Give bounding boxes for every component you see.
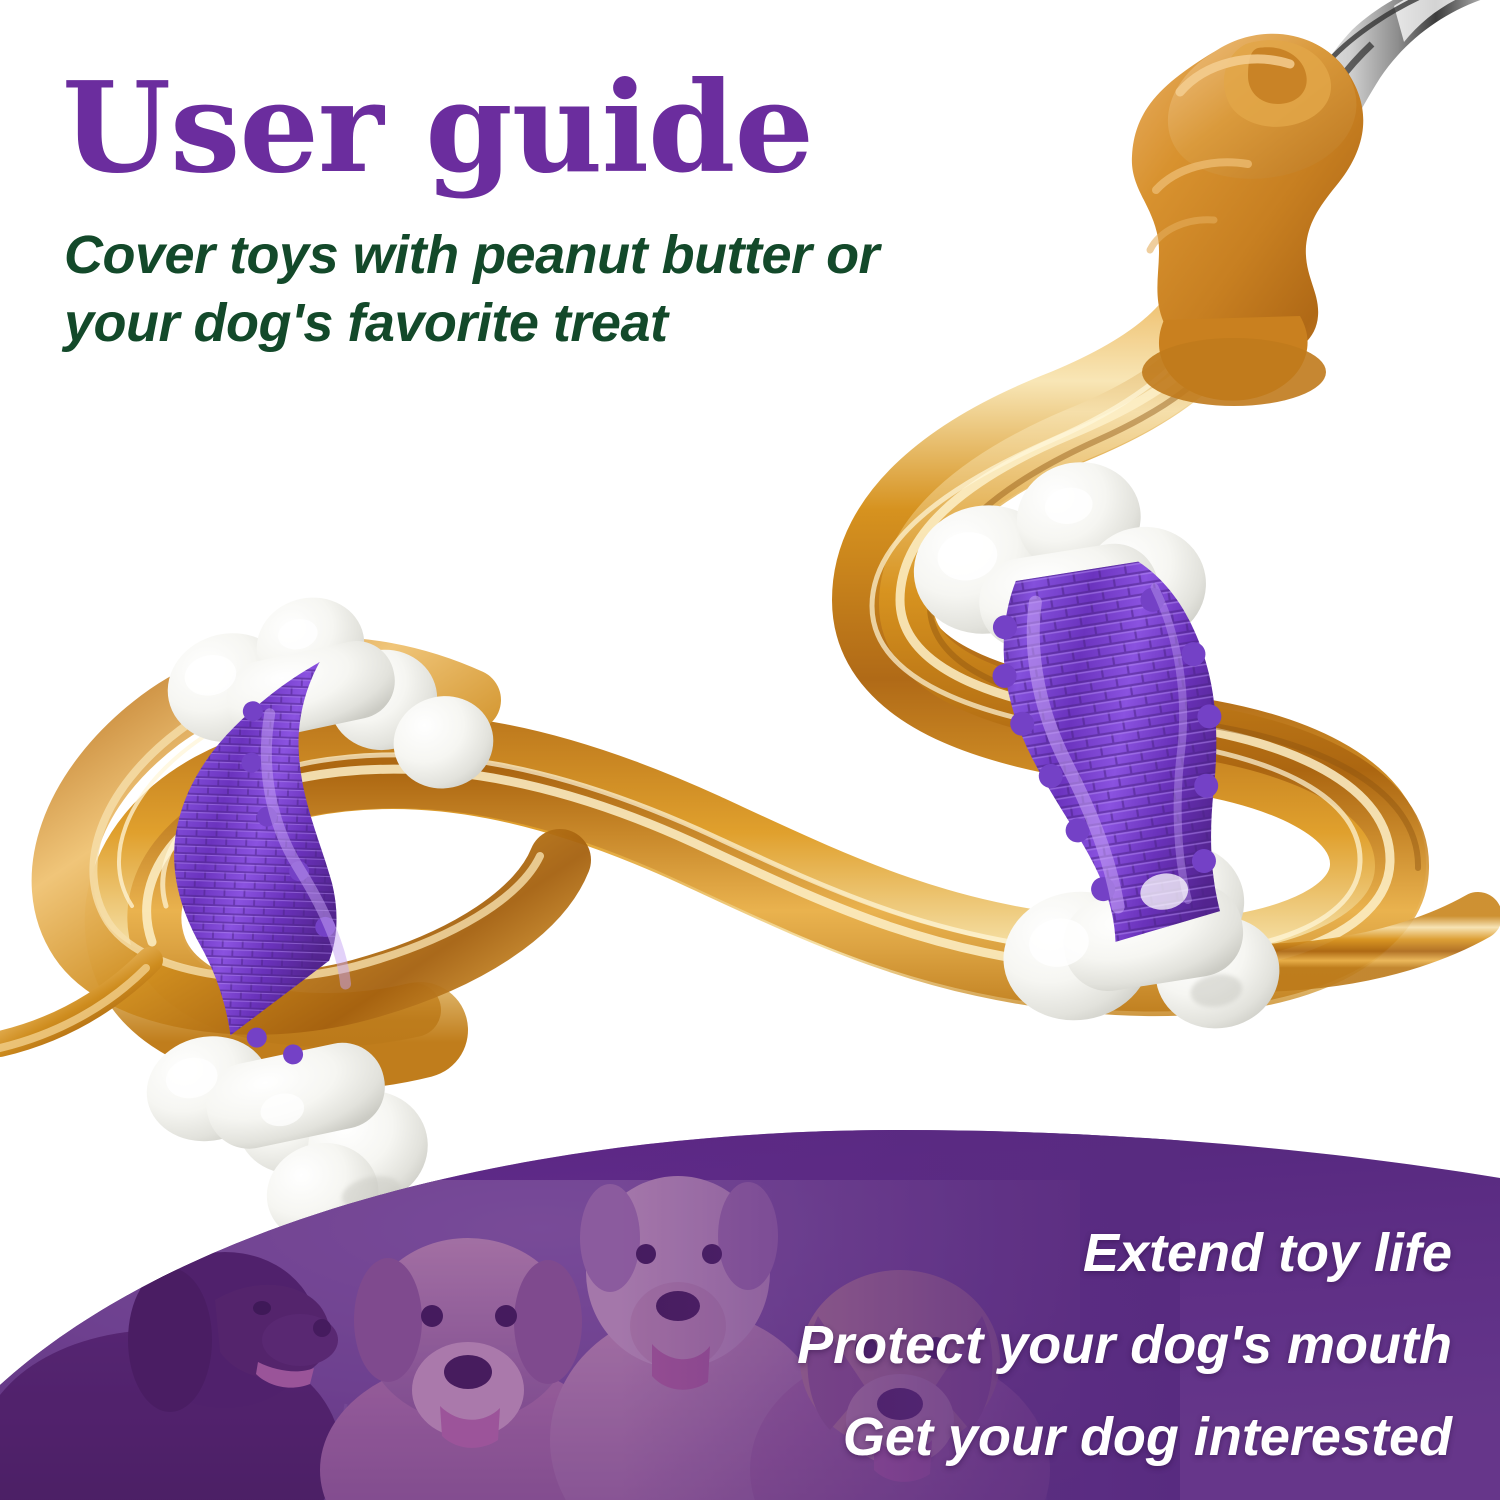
benefits-banner-text-layer: Extend toy life Protect your dog's mouth… xyxy=(0,1100,1500,1500)
benefit-item-3: Get your dog interested xyxy=(452,1410,1452,1464)
product-infographic: User guide Cover toys with peanut butter… xyxy=(0,0,1500,1500)
page-subtitle: Cover toys with peanut butter or your do… xyxy=(64,222,944,357)
peanut-butter-spoon xyxy=(1132,0,1500,406)
benefit-item-1: Extend toy life xyxy=(452,1226,1452,1280)
benefit-list: Extend toy life Protect your dog's mouth… xyxy=(452,1226,1452,1464)
page-title: User guide xyxy=(62,66,813,191)
benefit-item-2: Protect your dog's mouth xyxy=(452,1318,1452,1372)
